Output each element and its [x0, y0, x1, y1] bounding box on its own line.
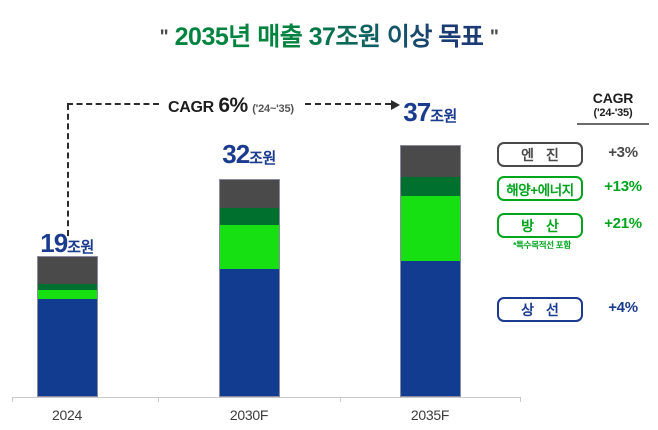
- x-axis-line: [12, 397, 520, 398]
- x-axis-label-2035F: 2035F: [375, 407, 485, 423]
- legend-chip-3[interactable]: 상 선: [497, 297, 583, 322]
- bar-total-number: 37: [403, 97, 430, 127]
- bar-total-number: 19: [40, 228, 67, 258]
- bar-total-number: 32: [222, 139, 249, 169]
- bar-segment-merchant[interactable]: [37, 299, 98, 397]
- cagr-callout-range: ('24~'35): [252, 103, 294, 115]
- cagr-callout-label: CAGR: [168, 99, 214, 116]
- legend-chip-1[interactable]: 해양+에너지: [497, 176, 583, 201]
- bar-segment-marine[interactable]: [219, 208, 280, 225]
- legend-cagr-value-2: +21%: [593, 215, 653, 232]
- axis-tick: [158, 397, 159, 402]
- axis-tick: [12, 397, 13, 402]
- bar-segment-defense[interactable]: [400, 196, 461, 261]
- legend-footnote: *특수목적선 포함: [497, 239, 587, 251]
- x-axis-label-2030F: 2030F: [194, 407, 304, 423]
- legend-cagr-value-3: +4%: [593, 299, 653, 316]
- bar-total-label-2035F: 37조원: [365, 97, 495, 128]
- axis-tick: [340, 397, 341, 402]
- legend-cagr-value-0: +3%: [593, 144, 653, 161]
- bar-total-unit: 조원: [67, 239, 94, 256]
- bar-segment-engine[interactable]: [219, 179, 280, 208]
- bar-total-unit: 조원: [249, 150, 276, 167]
- bar-2024[interactable]: [37, 256, 98, 397]
- cagr-leader-vertical: [67, 104, 69, 236]
- cagr-callout: CAGR 6% ('24~'35): [168, 94, 294, 118]
- cagr-callout-percent: 6%: [218, 94, 247, 117]
- bar-2035F[interactable]: [400, 145, 461, 397]
- cagr-leader-horizontal: [67, 103, 159, 105]
- axis-tick: [520, 397, 521, 402]
- bar-segment-merchant[interactable]: [400, 261, 461, 397]
- legend-header: CAGR ('24-'35): [574, 90, 652, 125]
- bar-segment-defense[interactable]: [219, 225, 280, 269]
- legend-chip-0[interactable]: 엔 진: [497, 142, 583, 167]
- legend-chip-2[interactable]: 방 산: [497, 213, 583, 238]
- bar-segment-defense[interactable]: [37, 290, 98, 299]
- bar-segment-engine[interactable]: [400, 145, 461, 177]
- bar-segment-engine[interactable]: [37, 256, 98, 284]
- legend-header-range: ('24-'35): [574, 107, 652, 119]
- legend-cagr-value-1: +13%: [593, 178, 653, 195]
- bar-total-label-2030F: 32조원: [184, 139, 314, 170]
- legend-header-title: CAGR: [574, 90, 652, 106]
- bar-total-label-2024: 19조원: [2, 228, 132, 259]
- bar-segment-merchant[interactable]: [219, 269, 280, 397]
- bar-segment-marine[interactable]: [400, 177, 461, 196]
- legend-header-rule: [577, 123, 649, 125]
- bar-2030F[interactable]: [219, 179, 280, 397]
- bar-total-unit: 조원: [430, 108, 457, 125]
- x-axis-label-2024: 2024: [12, 407, 122, 423]
